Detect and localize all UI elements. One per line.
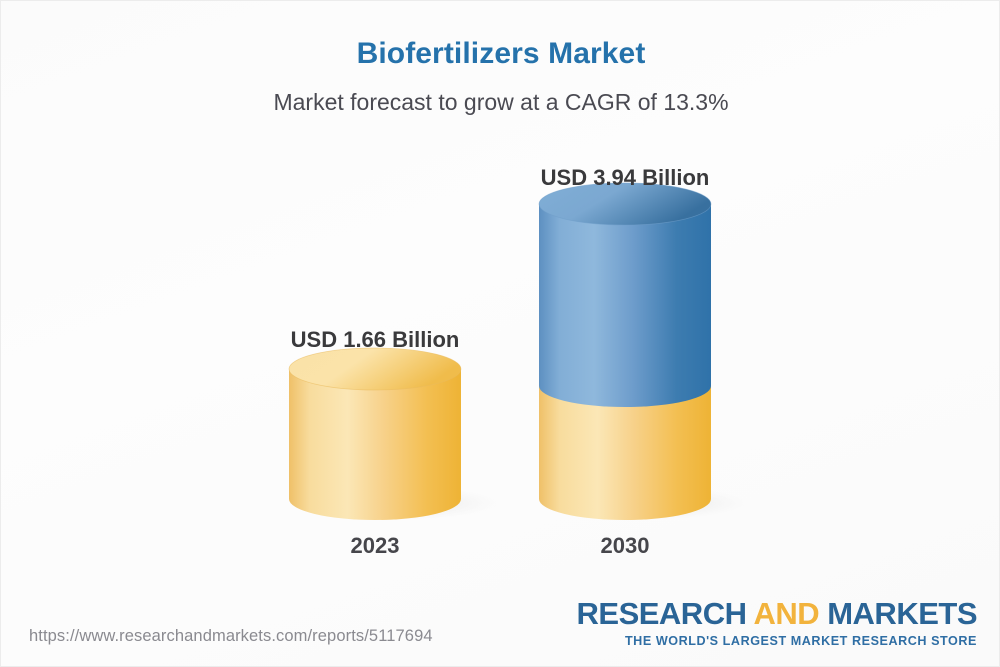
bar-value-label-2023: USD 1.66 Billion [275, 327, 475, 353]
brand-word-and: AND [753, 596, 819, 631]
bar-2023-body [289, 369, 461, 520]
brand-logo-wordmark: RESEARCH AND MARKETS [577, 598, 978, 629]
brand-word-research: RESEARCH [577, 596, 754, 631]
bar-value-label-2030: USD 3.94 Billion [525, 165, 725, 191]
brand-logo: RESEARCH AND MARKETS THE WORLD'S LARGEST… [577, 598, 978, 648]
brand-tagline: THE WORLD'S LARGEST MARKET RESEARCH STOR… [577, 635, 978, 648]
bar-chart-graphic [1, 1, 1000, 667]
bar-2023 [289, 348, 497, 520]
category-label-2030: 2030 [545, 533, 705, 559]
report-url[interactable]: https://www.researchandmarkets.com/repor… [29, 627, 433, 646]
bar-2030 [539, 183, 747, 520]
brand-word-markets: MARKETS [819, 596, 977, 631]
category-label-2023: 2023 [295, 533, 455, 559]
chart-canvas: Biofertilizers Market Market forecast to… [0, 0, 1000, 667]
bar-2030-growth-segment [539, 204, 711, 407]
